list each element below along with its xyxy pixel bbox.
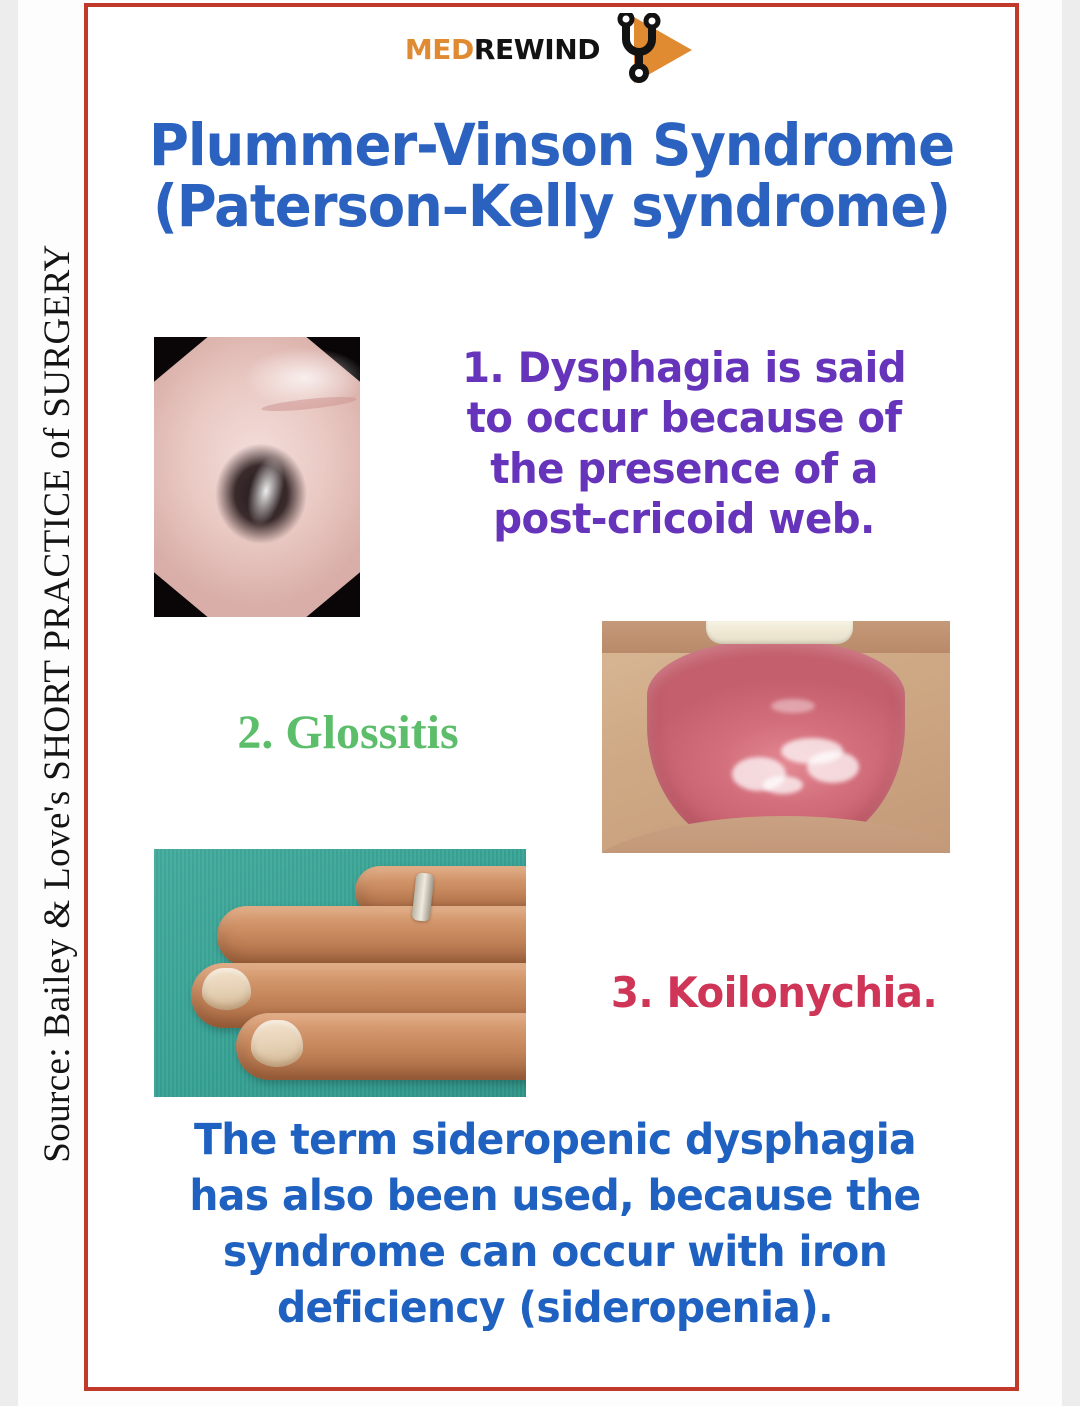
hand-photo-spoon-nail [251,1020,303,1067]
hand-photo-spoon-nail [202,968,250,1010]
logo-word-rewind: REWIND [474,36,600,64]
hand-photo-finger [217,906,526,966]
feature-1-line-3: the presence of a [396,444,972,494]
feature-1-text: 1. Dysphagia is said to occur because of… [396,343,972,545]
footer-line-2: has also been used, because the [128,1169,981,1225]
play-stethoscope-icon [602,13,698,87]
tongue-photo-teeth [706,621,852,644]
infographic-screen: Source: Bailey & Love's SHORT PRACTICE o… [0,0,1080,1406]
tongue-white-patch [771,699,815,713]
feature-1-line-2: to occur because of [396,393,972,443]
footer-paragraph: The term sideropenic dysphagia has also … [128,1113,981,1337]
feature-2-text: 2. Glossitis [148,707,548,760]
feature-1-line-4: post-cricoid web. [396,494,972,544]
koilonychia-fingernails-photo [154,849,526,1097]
page-title: Plummer-Vinson Syndrome (Paterson–Kelly … [116,115,987,238]
endoscopy-post-cricoid-web-photo [154,337,360,617]
footer-line-1: The term sideropenic dysphagia [128,1113,981,1169]
source-credit: Source: Bailey & Love's SHORT PRACTICE o… [24,0,90,1406]
title-line-1: Plummer-Vinson Syndrome [116,115,987,176]
source-credit-text: Source: Bailey & Love's SHORT PRACTICE o… [36,244,79,1163]
title-line-2: (Paterson–Kelly syndrome) [116,176,987,237]
infographic-card: MEDREWIND Plummer-Vinson Syndrome [84,3,1019,1391]
footer-line-3: syndrome can occur with iron [128,1225,981,1281]
logo-word-med: MED [405,36,474,64]
glossitis-tongue-photo [602,621,950,853]
logo-wordmark: MEDREWIND [405,36,600,64]
feature-1-line-1: 1. Dysphagia is said [396,343,972,393]
tongue-white-patch [807,751,859,783]
brand-logo: MEDREWIND [88,13,1015,87]
footer-line-4: deficiency (sideropenia). [128,1281,981,1337]
feature-3-text: 3. Koilonychia. [567,969,982,1017]
tongue-white-patch [763,776,803,794]
